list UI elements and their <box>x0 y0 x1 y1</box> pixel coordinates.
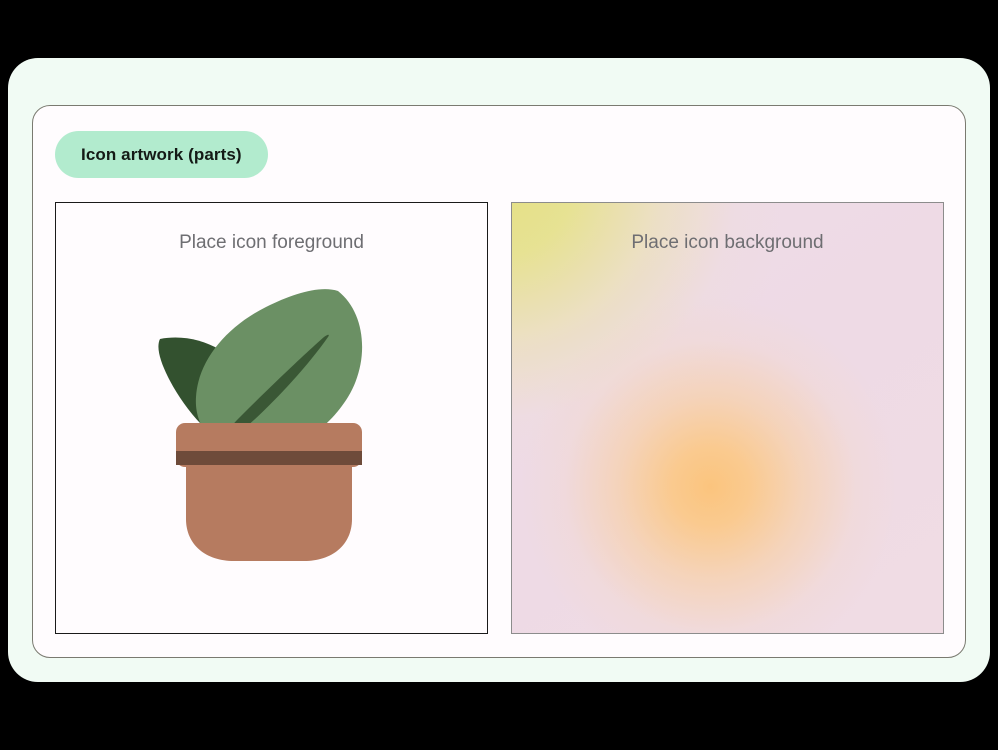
icon-background-panel[interactable]: Place icon background <box>511 202 944 634</box>
section-badge-label: Icon artwork (parts) <box>81 145 242 165</box>
icon-foreground-panel[interactable]: Place icon foreground <box>55 202 488 634</box>
pot-band-shape <box>176 451 362 465</box>
section-badge: Icon artwork (parts) <box>55 131 268 178</box>
icon-foreground-caption: Place icon foreground <box>56 232 487 254</box>
icon-background-caption: Place icon background <box>512 232 943 254</box>
pot-body-shape <box>186 453 352 561</box>
potted-plant-icon <box>142 283 402 573</box>
